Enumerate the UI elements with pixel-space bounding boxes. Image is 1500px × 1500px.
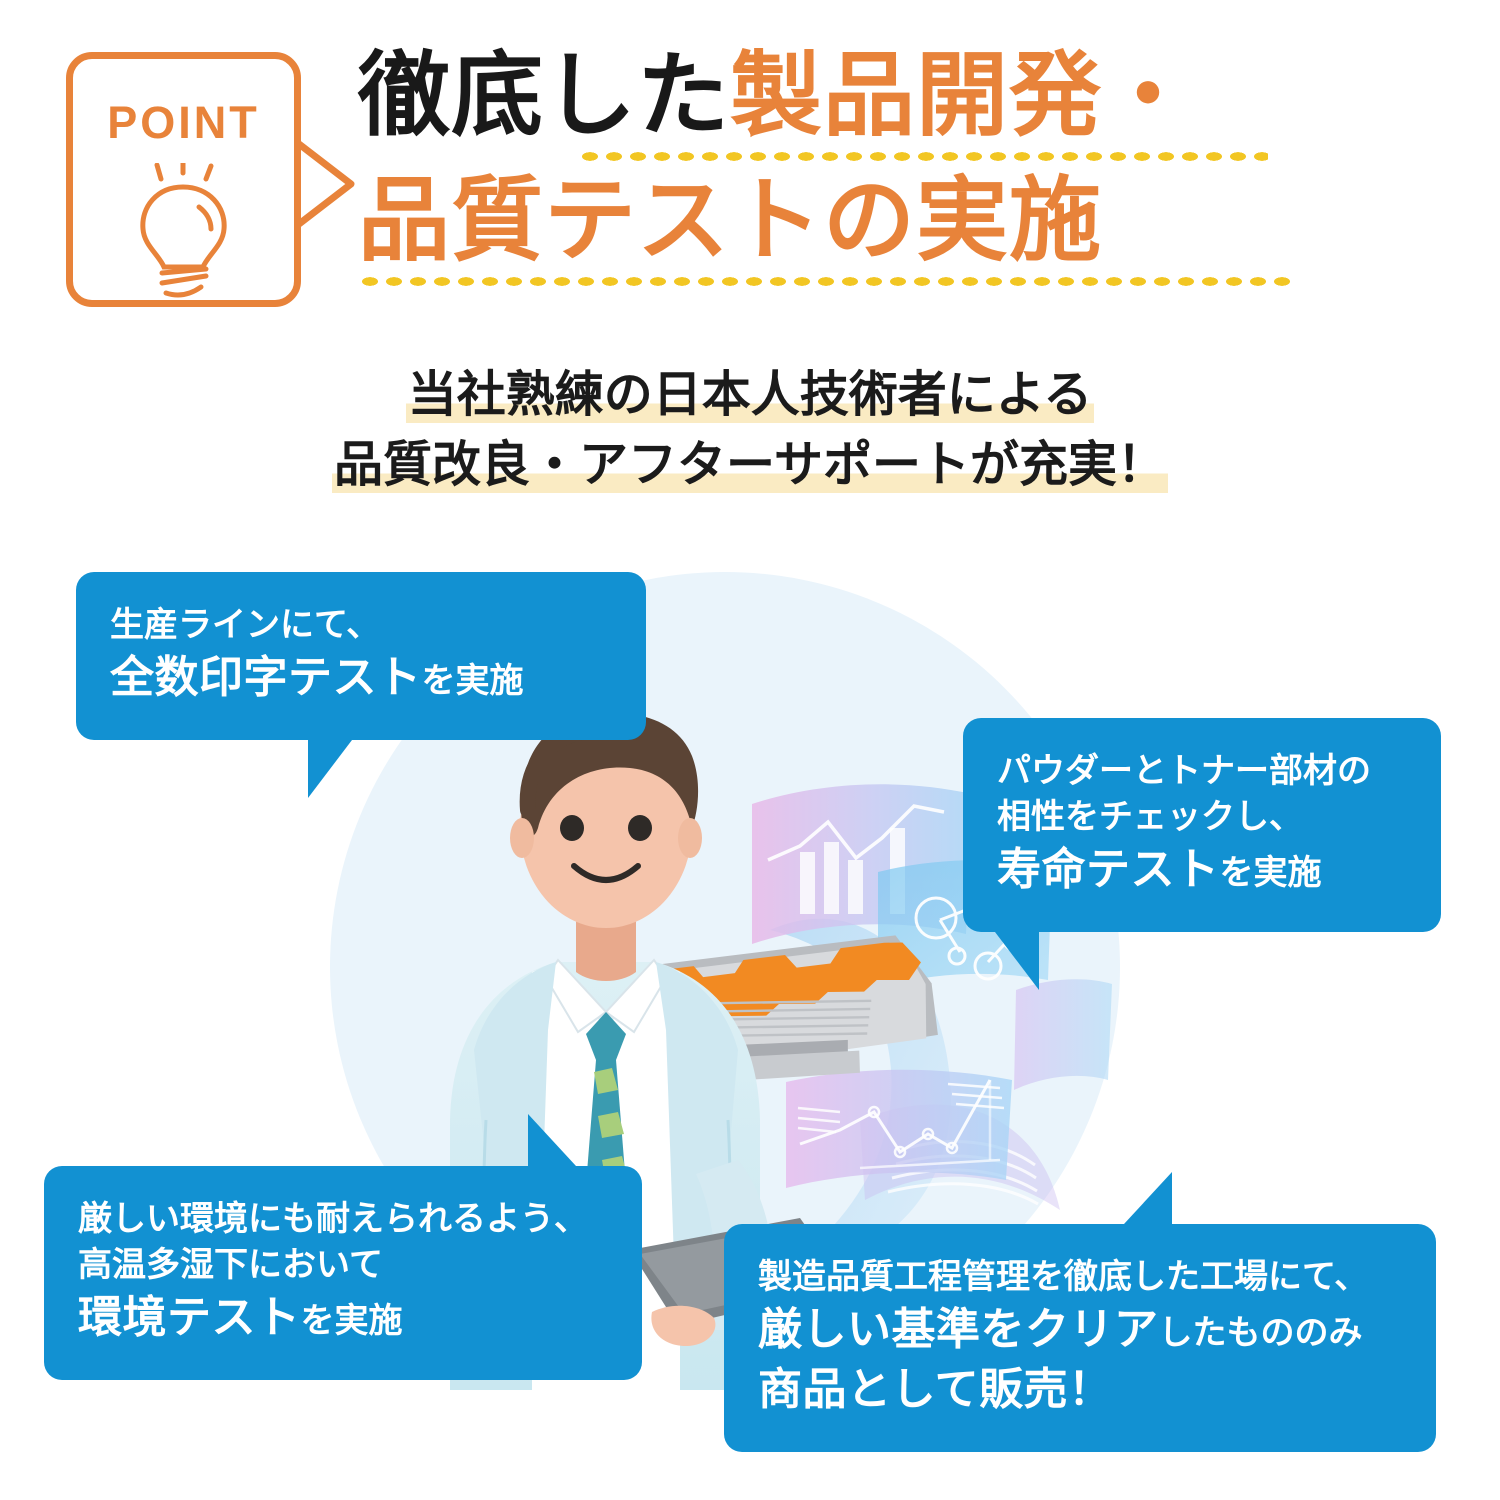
page-headline: 徹底した製品開発・ 品質テストの実施 (358, 44, 1368, 294)
bubble4-tail (1124, 1172, 1172, 1224)
headline-line-1: 徹底した製品開発・ (358, 44, 1368, 147)
subtitle-line-2: 品質改良・アフターサポートが充実！ (0, 430, 1500, 500)
bubble4-suffix: したもののみ (1159, 1313, 1363, 1353)
subtitle-line-1: 当社熟練の日本人技術者による (0, 360, 1500, 430)
speech-bubble-life-test: パウダーとトナー部材の 相性をチェックし、 寿命テストを実施 (963, 718, 1441, 932)
bubble3-line-1: 厳しい環境にも耐えられるよう、 (78, 1196, 608, 1242)
lightbulb-icon (121, 163, 246, 308)
page-subtitle: 当社熟練の日本人技術者による 品質改良・アフターサポートが充実！ (0, 360, 1500, 499)
bubble4-emphasis: 厳しい基準をクリア (758, 1304, 1159, 1355)
speech-bubble-print-test: 生産ラインにて、 全数印字テストを実施 (76, 572, 646, 740)
headline-dot-underline-2 (358, 275, 1293, 288)
point-badge: POINT (66, 52, 301, 307)
bubble1-suffix: を実施 (422, 661, 524, 701)
side-accent-panel (1014, 979, 1112, 1090)
bubble2-tail (995, 932, 1039, 990)
headline-dot-underline-1 (578, 150, 1268, 163)
bubble1-line-2: 全数印字テストを実施 (110, 648, 612, 708)
bubble1-line-1: 生産ラインにて、 (110, 602, 612, 648)
bubble2-line-1: パウダーとトナー部材の (997, 748, 1407, 794)
subtitle-highlight-1: 当社熟練の日本人技術者による (406, 366, 1095, 423)
headline-text-black: 徹底した (358, 42, 730, 149)
line-chart-panel (786, 1070, 1012, 1188)
speech-bubble-environment-test: 厳しい環境にも耐えられるよう、 高温多湿下において 環境テストを実施 (44, 1166, 642, 1380)
bubble3-line-3: 環境テストを実施 (78, 1288, 608, 1348)
headline-line-2: 品質テストの実施 (358, 169, 1368, 272)
headline-text-orange-1: 製品開発・ (730, 42, 1195, 149)
bubble3-line-2: 高温多湿下において (78, 1242, 608, 1288)
subtitle-highlight-2: 品質改良・アフターサポートが充実！ (332, 436, 1168, 493)
bubble2-emphasis: 寿命テスト (997, 844, 1220, 895)
bubble2-line-3: 寿命テストを実施 (997, 840, 1407, 900)
bubble4-line-2: 厳しい基準をクリアしたもののみ (758, 1300, 1402, 1360)
point-badge-tail-icon (295, 140, 357, 228)
bubble1-emphasis: 全数印字テスト (110, 652, 422, 703)
bubble2-suffix: を実施 (1220, 853, 1322, 893)
bubble3-suffix: を実施 (301, 1301, 403, 1341)
bubble4-line-1: 製造品質工程管理を徹底した工場にて、 (758, 1254, 1402, 1300)
bubble3-emphasis: 環境テスト (78, 1292, 301, 1343)
bubble2-line-2: 相性をチェックし、 (997, 794, 1407, 840)
bubble3-tail (528, 1114, 576, 1166)
point-badge-label: POINT (107, 97, 260, 149)
bubble1-tail (308, 740, 352, 798)
speech-bubble-quality-standard: 製造品質工程管理を徹底した工場にて、 厳しい基準をクリアしたもののみ 商品として… (724, 1224, 1436, 1452)
bubble4-line-3: 商品として販売！ (758, 1360, 1402, 1420)
